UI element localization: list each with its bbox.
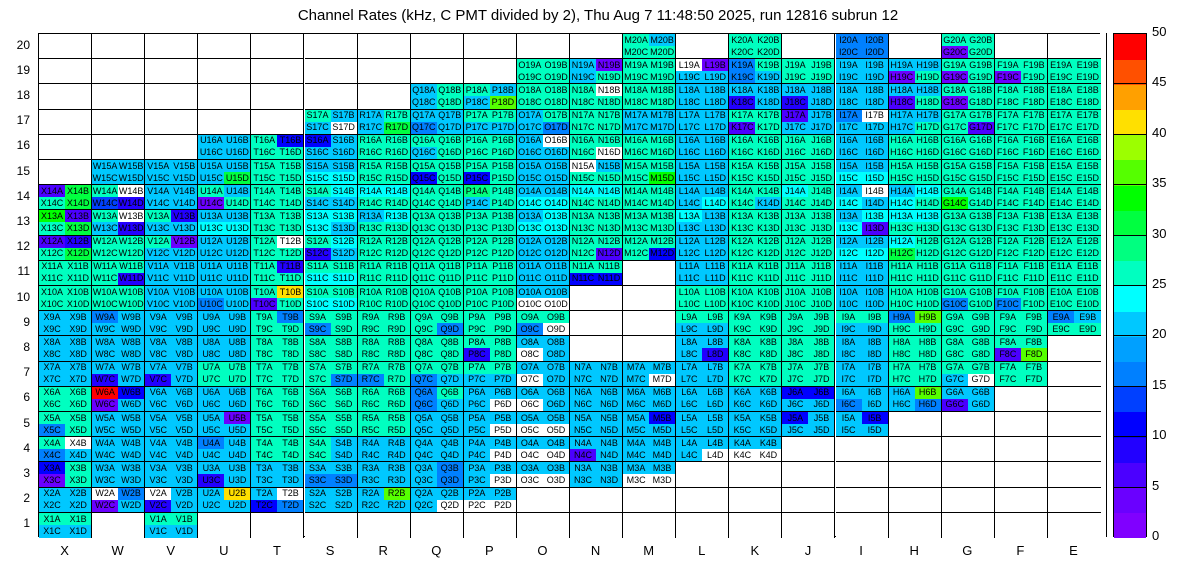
- channel-H19A: H19A: [889, 59, 915, 71]
- channel-E9A: E9A: [1048, 311, 1075, 323]
- channel-M4D: M4D: [649, 449, 675, 461]
- channel-K2B: [755, 488, 781, 500]
- channel-N3B: N3B: [596, 462, 622, 474]
- module-cell-Q16: Q16AQ16BQ16CQ16D: [411, 135, 464, 160]
- channel-L15B: L15B: [702, 160, 728, 172]
- channel-U9A: U9A: [198, 311, 224, 323]
- channel-L15D: L15D: [702, 172, 728, 184]
- channel-J18B: J18B: [808, 84, 834, 96]
- channel-F5B: [1021, 412, 1047, 424]
- module-cell-J1: [782, 513, 835, 538]
- channel-E19A: E19A: [1048, 59, 1075, 71]
- channel-K5C: K5C: [729, 424, 755, 436]
- channel-E1B: [1074, 513, 1101, 526]
- channel-E9D: E9D: [1074, 323, 1101, 335]
- channel-I5C: I5C: [836, 424, 862, 436]
- module-cell-K15: K15AK15BK15CK15D: [729, 160, 782, 185]
- channel-M18A: M18A: [623, 84, 649, 96]
- module-cell-S15: S15AS15BS15CS15D: [305, 160, 358, 185]
- channel-F20D: [1021, 46, 1047, 58]
- module-cell-E1: [1048, 513, 1101, 538]
- channel-Q12C: Q12C: [411, 248, 437, 260]
- channel-M13A: M13A: [623, 210, 649, 222]
- channel-N11A: N11A: [570, 261, 596, 273]
- channel-I15C: I15C: [836, 172, 862, 184]
- channel-V5B: V5B: [171, 412, 197, 424]
- module-cell-R15: R15AR15BR15CR15D: [358, 160, 411, 185]
- channel-I8D: I8D: [862, 348, 888, 360]
- channel-V6A: V6A: [145, 387, 171, 399]
- colorbar-band-19: [1114, 34, 1146, 60]
- module-cell-G14: G14AG14BG14CG14D: [942, 185, 995, 210]
- module-cell-H18: H18AH18BH18CH18D: [889, 84, 942, 109]
- module-cell-R3: R3AR3BR3CR3D: [358, 462, 411, 487]
- module-cell-I1: [836, 513, 889, 538]
- module-cell-H1: [889, 513, 942, 538]
- module-cell-H8: H8AH8BH8CH8D: [889, 336, 942, 361]
- module-cell-I11: I11AI11BI11CI11D: [836, 261, 889, 286]
- module-cell-Q1: [411, 513, 464, 538]
- channel-K8A: K8A: [729, 336, 755, 348]
- channel-X13B: X13B: [65, 210, 91, 222]
- channel-K12D: K12D: [755, 248, 781, 260]
- channel-G3B: [968, 462, 994, 474]
- module-cell-W9: W9AW9BW9CW9D: [92, 311, 145, 336]
- channel-P12C: P12C: [464, 248, 490, 260]
- channel-P17A: P17A: [464, 110, 490, 122]
- channel-N18C: N18C: [570, 96, 596, 108]
- channel-E18C: E18C: [1048, 96, 1075, 108]
- channel-H15C: H15C: [889, 172, 915, 184]
- channel-W11D: W11D: [118, 273, 144, 285]
- module-cell-V7: V7AV7BV7CV7D: [145, 362, 198, 387]
- channel-E2D: [1074, 500, 1101, 512]
- channel-U11B: U11B: [224, 261, 250, 273]
- channel-M14C: M14C: [623, 197, 649, 209]
- module-cell-Q12: Q12AQ12BQ12CQ12D: [411, 236, 464, 261]
- channel-L16C: L16C: [676, 147, 702, 159]
- channel-N20A: [570, 34, 596, 46]
- channel-F5A: [995, 412, 1021, 424]
- channel-F6C: [995, 399, 1021, 411]
- channel-K16D: K16D: [755, 147, 781, 159]
- channel-G9B: G9B: [968, 311, 994, 323]
- channel-P10C: P10C: [464, 298, 490, 310]
- module-cell-S11: S11AS11BS11CS11D: [305, 261, 358, 286]
- channel-V8A: V8A: [145, 336, 171, 348]
- channel-Q7A: Q7A: [411, 362, 437, 374]
- channel-O17D: O17D: [543, 122, 569, 134]
- channel-L16A: L16A: [676, 135, 702, 147]
- channel-E6D: [1074, 399, 1101, 411]
- channel-V9C: V9C: [145, 323, 171, 335]
- channel-R15D: R15D: [384, 172, 410, 184]
- module-cell-T3: T3AT3BT3CT3D: [251, 462, 304, 487]
- channel-Q7D: Q7D: [437, 374, 463, 386]
- channel-O9D: O9D: [543, 323, 569, 335]
- channel-M17D: M17D: [649, 122, 675, 134]
- module-cell-G11: G11AG11BG11CG11D: [942, 261, 995, 286]
- channel-G18A: G18A: [942, 84, 968, 96]
- channel-I2C: [836, 500, 862, 512]
- module-cell-I15: I15AI15BI15CI15D: [836, 160, 889, 185]
- channel-V5C: V5C: [145, 424, 171, 436]
- module-cell-T20: [251, 34, 304, 59]
- channel-L12D: L12D: [702, 248, 728, 260]
- y-tick-3: 3: [0, 466, 30, 480]
- channel-N20C: [570, 46, 596, 58]
- channel-J9B: J9B: [808, 311, 834, 323]
- channel-G11D: G11D: [968, 273, 994, 285]
- channel-O16D: O16D: [543, 147, 569, 159]
- module-cell-E13: E13AE13BE13CE13D: [1048, 210, 1101, 235]
- channel-V11A: V11A: [145, 261, 171, 273]
- colorbar-band-3: [1114, 437, 1146, 463]
- channel-E18D: E18D: [1074, 96, 1101, 108]
- channel-I6D: I6D: [862, 399, 888, 411]
- channel-S8A: S8A: [305, 336, 331, 348]
- channel-G12D: G12D: [968, 248, 994, 260]
- channel-U9D: U9D: [224, 323, 250, 335]
- module-cell-J7: J7AJ7BJ7CJ7D: [782, 362, 835, 387]
- module-cell-G16: G16AG16BG16CG16D: [942, 135, 995, 160]
- channel-M3D: M3D: [649, 474, 675, 486]
- channel-H10B: H10B: [915, 286, 941, 298]
- module-cell-O9: O9AO9BO9CO9D: [517, 311, 570, 336]
- channel-L11B: L11B: [702, 261, 728, 273]
- module-cell-S2: S2AS2BS2CS2D: [305, 488, 358, 513]
- channel-O8D: O8D: [543, 348, 569, 360]
- channel-E9B: E9B: [1074, 311, 1101, 323]
- channel-W17D: [118, 122, 144, 134]
- x-tick-O: O: [522, 543, 562, 558]
- channel-L17C: L17C: [676, 122, 702, 134]
- channel-X10D: X10D: [65, 298, 91, 310]
- module-cell-W19: [92, 59, 145, 84]
- channel-J9C: J9C: [782, 323, 808, 335]
- module-cell-P10: P10AP10BP10CP10D: [464, 286, 517, 311]
- module-cell-O11: O11AO11BO11CO11D: [517, 261, 570, 286]
- channel-K18C: K18C: [729, 96, 755, 108]
- channel-I7A: I7A: [836, 362, 862, 374]
- channel-N18B: N18B: [596, 84, 622, 96]
- channel-F9C: F9C: [995, 323, 1021, 335]
- channel-S8D: S8D: [331, 348, 357, 360]
- module-cell-P20: [464, 34, 517, 59]
- channel-N1C: [570, 525, 596, 538]
- channel-J11D: J11D: [808, 273, 834, 285]
- channel-K9A: K9A: [729, 311, 755, 323]
- channel-L6C: L6C: [676, 399, 702, 411]
- channel-U11A: U11A: [198, 261, 224, 273]
- channel-G11A: G11A: [942, 261, 968, 273]
- channel-T4C: T4C: [251, 449, 277, 461]
- channel-P6B: P6B: [490, 387, 516, 399]
- module-cell-K1: [729, 513, 782, 538]
- channel-S7B: S7B: [331, 362, 357, 374]
- channel-U14B: U14B: [224, 185, 250, 197]
- channel-Q15D: Q15D: [437, 172, 463, 184]
- channel-H6C: H6C: [889, 399, 915, 411]
- channel-I4A: [836, 437, 862, 449]
- x-tick-U: U: [204, 543, 244, 558]
- channel-S5B: S5B: [331, 412, 357, 424]
- channel-T8B: T8B: [277, 336, 303, 348]
- channel-L1D: [702, 525, 728, 538]
- channel-I9A: I9A: [836, 311, 862, 323]
- module-cell-S1: [305, 513, 358, 538]
- channel-N6C: N6C: [570, 399, 596, 411]
- channel-S11C: S11C: [305, 273, 331, 285]
- channel-F5C: [995, 424, 1021, 436]
- channel-R3C: R3C: [358, 474, 384, 486]
- channel-M7B: M7B: [649, 362, 675, 374]
- x-tick-H: H: [894, 543, 934, 558]
- channel-K4D: K4D: [755, 449, 781, 461]
- channel-R12A: R12A: [358, 236, 384, 248]
- channel-W9D: W9D: [118, 323, 144, 335]
- channel-M10B: [649, 286, 675, 298]
- channel-N17B: N17B: [596, 110, 622, 122]
- channel-L7B: L7B: [702, 362, 728, 374]
- colorbar-band-6: [1114, 362, 1146, 388]
- channel-L8C: L8C: [676, 348, 702, 360]
- module-cell-G12: G12AG12BG12CG12D: [942, 236, 995, 261]
- module-cell-O1: [517, 513, 570, 538]
- channel-N19B: N19B: [596, 59, 622, 71]
- channel-H6D: H6D: [915, 399, 941, 411]
- channel-P19D: [490, 71, 516, 83]
- module-cell-S14: S14AS14BS14CS14D: [305, 185, 358, 210]
- channel-O8A: O8A: [517, 336, 543, 348]
- channel-Q11A: Q11A: [411, 261, 437, 273]
- channel-U15D: U15D: [224, 172, 250, 184]
- channel-H19C: H19C: [889, 71, 915, 83]
- module-cell-V20: [145, 34, 198, 59]
- module-cell-X15: [39, 160, 92, 185]
- channel-G9C: G9C: [942, 323, 968, 335]
- channel-O13B: O13B: [543, 210, 569, 222]
- channel-E13D: E13D: [1074, 222, 1101, 234]
- channel-U10B: U10B: [224, 286, 250, 298]
- channel-V2C: V2C: [145, 500, 171, 512]
- channel-I16A: I16A: [836, 135, 862, 147]
- channel-H17A: H17A: [889, 110, 915, 122]
- module-cell-G2: [942, 488, 995, 513]
- channel-J17B: J17B: [808, 110, 834, 122]
- channel-T18B: [277, 84, 303, 96]
- channel-Q18B: Q18B: [437, 84, 463, 96]
- module-cell-K11: K11AK11BK11CK11D: [729, 261, 782, 286]
- channel-N7D: N7D: [596, 374, 622, 386]
- channel-M6B: M6B: [649, 387, 675, 399]
- channel-H4C: [889, 449, 915, 461]
- channel-K4A: K4A: [729, 437, 755, 449]
- channel-E10A: E10A: [1048, 286, 1075, 298]
- channel-Q19B: [437, 59, 463, 71]
- channel-F17D: F17D: [1021, 122, 1047, 134]
- module-cell-M11: [623, 261, 676, 286]
- channel-P7C: P7C: [464, 374, 490, 386]
- colorbar-band-4: [1114, 412, 1146, 438]
- channel-E16A: E16A: [1048, 135, 1075, 147]
- channel-V16B: [171, 135, 197, 147]
- channel-Q15A: Q15A: [411, 160, 437, 172]
- channel-I14C: I14C: [836, 197, 862, 209]
- colorbar-band-11: [1114, 236, 1146, 262]
- channel-V13B: V13B: [171, 210, 197, 222]
- channel-E5C: [1048, 424, 1075, 436]
- channel-W3C: W3C: [92, 474, 118, 486]
- channel-P17C: P17C: [464, 122, 490, 134]
- channel-K15D: K15D: [755, 172, 781, 184]
- channel-L7A: L7A: [676, 362, 702, 374]
- channel-H18C: H18C: [889, 96, 915, 108]
- module-cell-J14: J14AJ14BJ14CJ14D: [782, 185, 835, 210]
- channel-S13A: S13A: [305, 210, 331, 222]
- y-tick-1: 1: [0, 516, 30, 530]
- channel-H9C: H9C: [889, 323, 915, 335]
- channel-P12B: P12B: [490, 236, 516, 248]
- module-cell-I12: I12AI12BI12CI12D: [836, 236, 889, 261]
- channel-N2C: [570, 500, 596, 512]
- channel-M15A: M15A: [623, 160, 649, 172]
- channel-E2A: [1048, 488, 1075, 500]
- channel-R20C: [358, 46, 384, 58]
- channel-J4A: [782, 437, 808, 449]
- module-cell-O18: O18AO18BO18CO18D: [517, 84, 570, 109]
- channel-T18A: [251, 84, 277, 96]
- channel-K14D: K14D: [755, 197, 781, 209]
- channel-T6D: T6D: [277, 399, 303, 411]
- module-cell-S18: [305, 84, 358, 109]
- channel-G17B: G17B: [968, 110, 994, 122]
- channel-V10B: V10B: [171, 286, 197, 298]
- channel-M4B: M4B: [649, 437, 675, 449]
- channel-U1C: [198, 525, 224, 538]
- module-cell-G3: [942, 462, 995, 487]
- channel-I20D: I20D: [862, 46, 888, 58]
- module-cell-F16: F16AF16BF16CF16D: [995, 135, 1048, 160]
- module-cell-J18: J18AJ18BJ18CJ18D: [782, 84, 835, 109]
- module-cell-F4: [995, 437, 1048, 462]
- channel-G17D: G17D: [968, 122, 994, 134]
- channel-L4B: L4B: [702, 437, 728, 449]
- channel-K17A: K17A: [729, 110, 755, 122]
- channel-W11B: W11B: [118, 261, 144, 273]
- channel-N8A: [570, 336, 596, 348]
- channel-G5A: [942, 412, 968, 424]
- channel-X7C: X7C: [39, 374, 65, 386]
- channel-J16C: J16C: [782, 147, 808, 159]
- channel-X1C: X1C: [39, 525, 65, 538]
- module-cell-E18: E18AE18BE18CE18D: [1048, 84, 1101, 109]
- channel-O13A: O13A: [517, 210, 543, 222]
- module-cell-H16: H16AH16BH16CH16D: [889, 135, 942, 160]
- module-cell-F2: [995, 488, 1048, 513]
- channel-Q15C: Q15C: [411, 172, 437, 184]
- module-cell-U12: U12AU12BU12CU12D: [198, 236, 251, 261]
- channel-U12C: U12C: [198, 248, 224, 260]
- colorbar-tick-label-0: 0: [1152, 528, 1159, 543]
- module-cell-E20: [1048, 34, 1101, 59]
- channel-E6C: [1048, 399, 1075, 411]
- channel-T15A: T15A: [251, 160, 277, 172]
- colorbar-band-2: [1114, 462, 1146, 488]
- channel-U5C: U5C: [198, 424, 224, 436]
- module-cell-K9: K9AK9BK9CK9D: [729, 311, 782, 336]
- module-cell-T19: [251, 59, 304, 84]
- channel-U3B: U3B: [224, 462, 250, 474]
- channel-O17B: O17B: [543, 110, 569, 122]
- channel-X2D: X2D: [65, 500, 91, 512]
- channel-W13C: W13C: [92, 222, 118, 234]
- module-cell-R16: R16AR16BR16CR16D: [358, 135, 411, 160]
- channel-W4A: W4A: [92, 437, 118, 449]
- channel-Q10D: Q10D: [437, 298, 463, 310]
- channel-J15B: J15B: [808, 160, 834, 172]
- channel-X9A: X9A: [39, 311, 65, 323]
- channel-V2D: V2D: [171, 500, 197, 512]
- channel-F1D: [1021, 525, 1047, 538]
- channel-V20A: [145, 34, 171, 46]
- module-cell-V3: V3AV3BV3CV3D: [145, 462, 198, 487]
- channel-O12C: O12C: [517, 248, 543, 260]
- channel-T5B: T5B: [277, 412, 303, 424]
- channel-L13D: L13D: [702, 222, 728, 234]
- channel-N5C: N5C: [570, 424, 596, 436]
- channel-V11D: V11D: [171, 273, 197, 285]
- module-cell-Q15: Q15AQ15BQ15CQ15D: [411, 160, 464, 185]
- channel-T11A: T11A: [251, 261, 277, 273]
- module-cell-E7: [1048, 362, 1101, 387]
- y-tick-13: 13: [0, 214, 30, 228]
- channel-L11D: L11D: [702, 273, 728, 285]
- module-cell-H10: H10AH10BH10CH10D: [889, 286, 942, 311]
- channel-F3B: [1021, 462, 1047, 474]
- channel-V7C: V7C: [145, 374, 171, 386]
- module-cell-V8: V8AV8BV8CV8D: [145, 336, 198, 361]
- channel-Q11B: Q11B: [437, 261, 463, 273]
- module-cell-Q3: Q3AQ3BQ3CQ3D: [411, 462, 464, 487]
- channel-U20D: [224, 46, 250, 58]
- channel-I13A: I13A: [836, 210, 862, 222]
- channel-Q6A: Q6A: [411, 387, 437, 399]
- module-cell-P13: P13AP13BP13CP13D: [464, 210, 517, 235]
- channel-O14D: O14D: [543, 197, 569, 209]
- channel-N19D: N19D: [596, 71, 622, 83]
- channel-H20D: [915, 46, 941, 58]
- channel-K7B: K7B: [755, 362, 781, 374]
- channel-W10C: W10C: [92, 298, 118, 310]
- channel-K13A: K13A: [729, 210, 755, 222]
- channel-O20B: [543, 34, 569, 46]
- channel-X8D: X8D: [65, 348, 91, 360]
- channel-U7A: U7A: [198, 362, 224, 374]
- channel-T2C: T2C: [251, 500, 277, 512]
- channel-Q4B: Q4B: [437, 437, 463, 449]
- channel-F15D: F15D: [1021, 172, 1047, 184]
- channel-G20B: G20B: [968, 34, 994, 46]
- module-cell-L12: L12AL12BL12CL12D: [676, 236, 729, 261]
- channel-R13A: R13A: [358, 210, 384, 222]
- channel-M19A: M19A: [623, 59, 649, 71]
- channel-T14C: T14C: [251, 197, 277, 209]
- channel-H9D: H9D: [915, 323, 941, 335]
- channel-J20A: [782, 34, 808, 46]
- channel-Q8B: Q8B: [437, 336, 463, 348]
- channel-K20A: K20A: [729, 34, 755, 46]
